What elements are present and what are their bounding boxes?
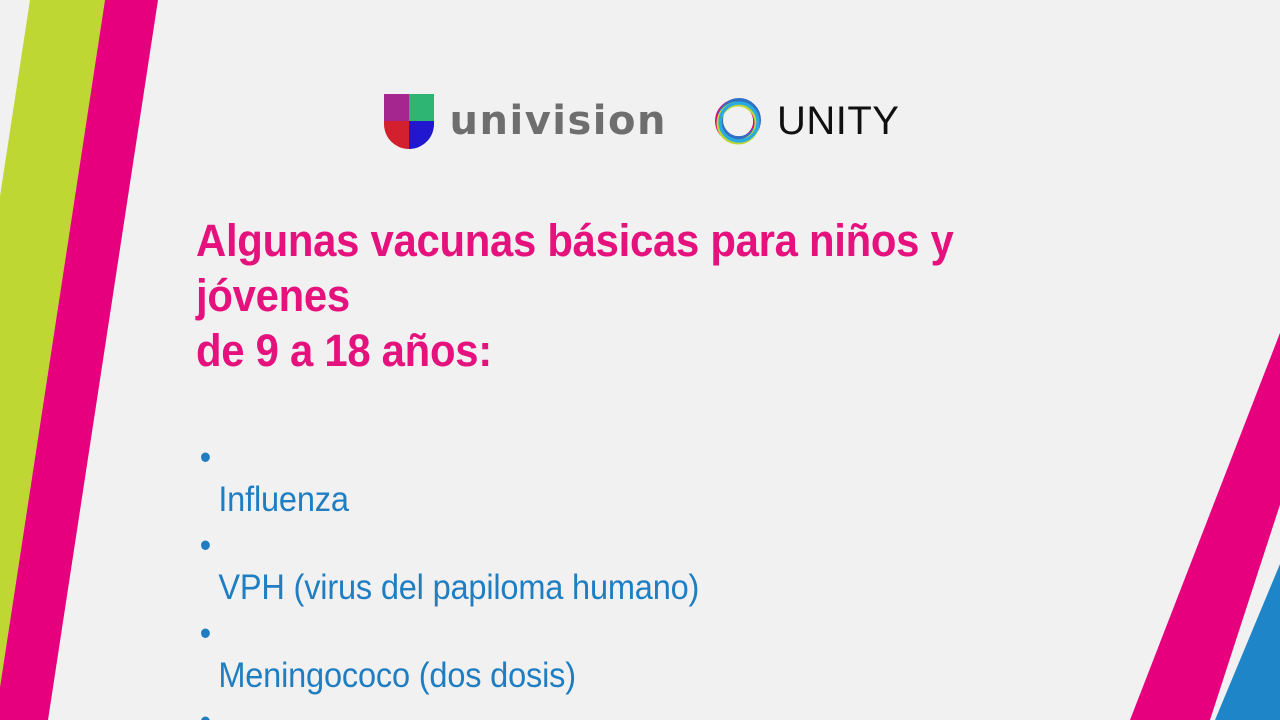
bullet-icon: •	[200, 613, 211, 655]
vaccine-bullet-list: •Influenza •VPH (virus del papiloma huma…	[196, 437, 1033, 720]
slide-canvas: univision UNITY Algunas vacunas básicas …	[0, 0, 1280, 720]
bullet-icon: •	[200, 525, 211, 567]
list-item: •Influenza	[196, 437, 1033, 521]
list-item: •Tdap (tétanos, difteria y tos ferina) y…	[196, 701, 1033, 720]
unity-ring-mark-icon	[711, 94, 765, 148]
magenta-stripe-right-shape	[1130, 320, 1280, 720]
univision-logo: univision	[381, 92, 667, 150]
list-item-label: VPH (virus del papiloma humano)	[218, 568, 699, 607]
bullet-icon: •	[200, 701, 211, 720]
slide-content: Algunas vacunas básicas para niños y jóv…	[196, 214, 1096, 720]
unity-logo: UNITY	[711, 94, 900, 148]
unity-wordmark: UNITY	[777, 101, 900, 141]
list-item: •Meningococo (dos dosis)	[196, 613, 1033, 697]
blue-corner-shape	[1215, 300, 1280, 720]
univision-u-mark-icon	[381, 92, 437, 150]
page-title: Algunas vacunas básicas para niños y jóv…	[196, 214, 1033, 379]
univision-wordmark: univision	[450, 101, 667, 141]
list-item-label: Influenza	[218, 480, 348, 519]
bullet-icon: •	[200, 437, 211, 479]
list-item: •VPH (virus del papiloma humano)	[196, 525, 1033, 609]
logo-bar: univision UNITY	[0, 88, 1280, 154]
list-item-label: Meningococo (dos dosis)	[218, 656, 576, 695]
